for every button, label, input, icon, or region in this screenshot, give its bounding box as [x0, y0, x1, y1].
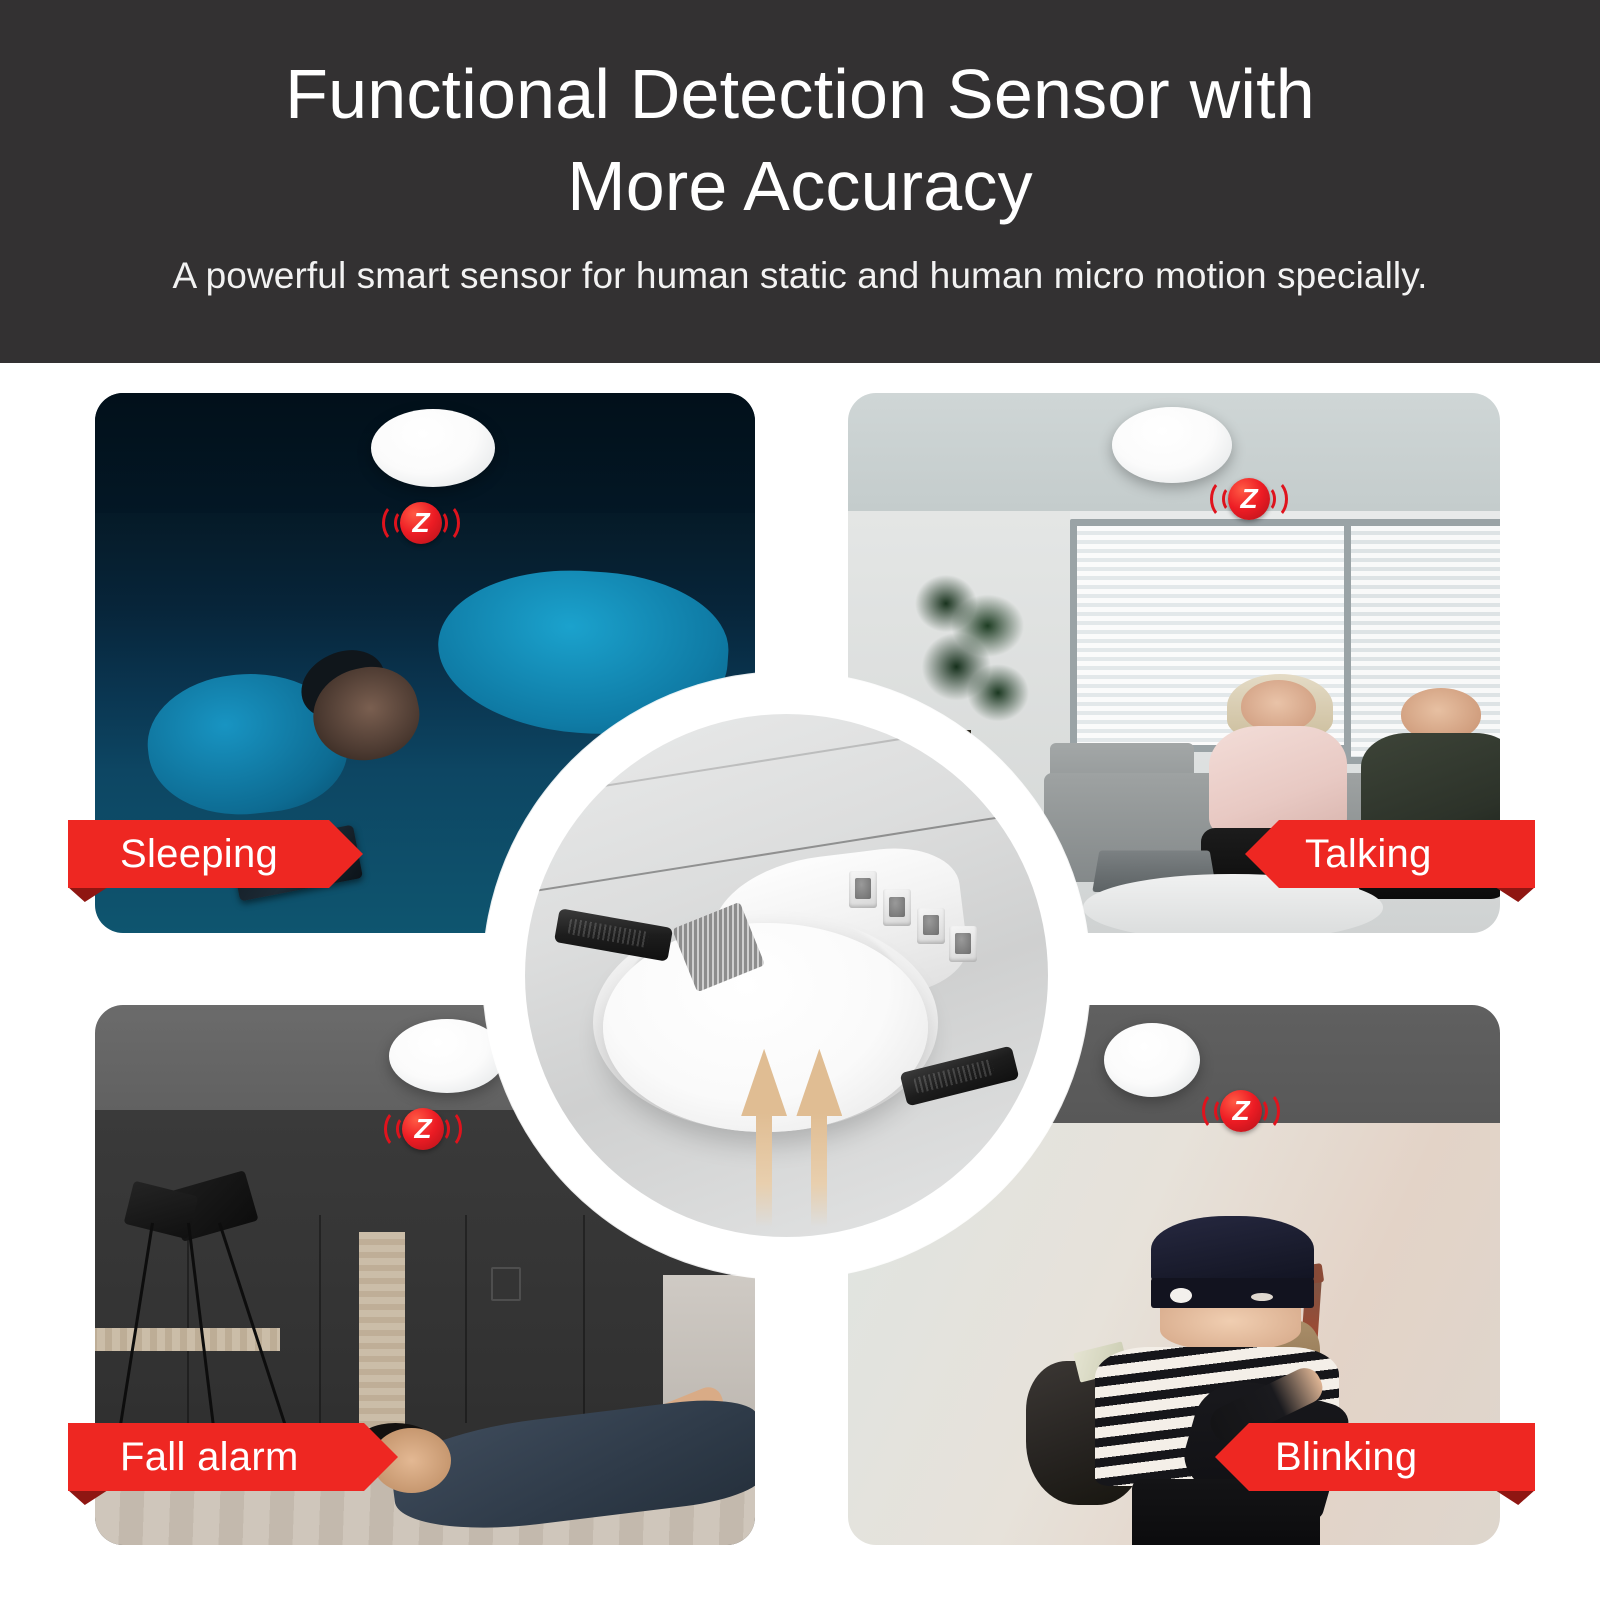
page-title-line-2: More Accuracy — [285, 140, 1315, 232]
detection-arrow — [796, 1049, 842, 1227]
ceiling-light-icon — [371, 409, 495, 487]
beanie-hat — [1151, 1216, 1314, 1288]
zigbee-letter: Z — [414, 1115, 431, 1143]
status-badge-label: Fall alarm — [68, 1435, 299, 1480]
status-badge-fall-alarm[interactable]: Fall alarm — [68, 1423, 398, 1491]
header-band: Functional Detection Sensor with More Ac… — [0, 0, 1600, 363]
terminal-block — [883, 889, 911, 926]
page-title-line-1: Functional Detection Sensor with — [285, 48, 1315, 140]
burglar-face — [1160, 1305, 1301, 1351]
product-photo — [525, 714, 1048, 1237]
ceiling-light-icon — [1104, 1023, 1200, 1097]
zigbee-badge: Z — [400, 502, 442, 544]
status-badge-label: Talking — [1245, 832, 1466, 877]
zigbee-badge: Z — [1220, 1090, 1262, 1132]
arrow-tip — [796, 1049, 842, 1117]
terminal-block — [849, 871, 877, 908]
floor-lamp-legs — [135, 1223, 254, 1449]
arrow-shaft — [756, 1113, 772, 1227]
burglar-eye-open — [1170, 1288, 1192, 1303]
zigbee-letter: Z — [412, 509, 429, 537]
zigbee-signal-icon: Z — [380, 1099, 466, 1159]
product-feature-banner: Functional Detection Sensor with More Ac… — [0, 0, 1600, 1600]
status-badge-label: Blinking — [1215, 1435, 1451, 1480]
zigbee-badge: Z — [1228, 478, 1270, 520]
arrow-shaft — [811, 1113, 827, 1227]
status-badge-talking[interactable]: Talking — [1245, 820, 1535, 888]
arrow-tip — [741, 1049, 787, 1117]
status-badge-blinking[interactable]: Blinking — [1215, 1423, 1535, 1491]
center-product-callout — [483, 672, 1090, 1279]
mounting-clip-left — [554, 908, 673, 961]
page-title: Functional Detection Sensor with More Ac… — [285, 48, 1315, 233]
zigbee-letter: Z — [1232, 1097, 1249, 1125]
wood-panel-vertical — [359, 1232, 405, 1441]
status-badge-sleeping[interactable]: Sleeping — [68, 820, 363, 888]
zigbee-signal-icon: Z — [1198, 1081, 1284, 1141]
person-head — [1241, 680, 1316, 733]
page-subtitle: A powerful smart sensor for human static… — [173, 255, 1428, 297]
zigbee-signal-icon: Z — [378, 493, 464, 553]
terminal-block — [949, 926, 977, 963]
zigbee-badge: Z — [402, 1108, 444, 1150]
wall-seam — [465, 1215, 467, 1423]
burglar-figure — [1070, 1216, 1383, 1545]
status-badge-label: Sleeping — [68, 832, 278, 877]
upward-detection-arrows — [734, 1049, 849, 1227]
wall-seam — [319, 1215, 321, 1423]
ribbon-fold — [1495, 887, 1535, 902]
zigbee-signal-icon: Z — [1206, 469, 1292, 529]
terminal-block — [917, 908, 945, 945]
detection-arrow — [741, 1049, 787, 1227]
ribbon-fold — [1495, 1490, 1535, 1505]
zigbee-letter: Z — [1240, 485, 1257, 513]
